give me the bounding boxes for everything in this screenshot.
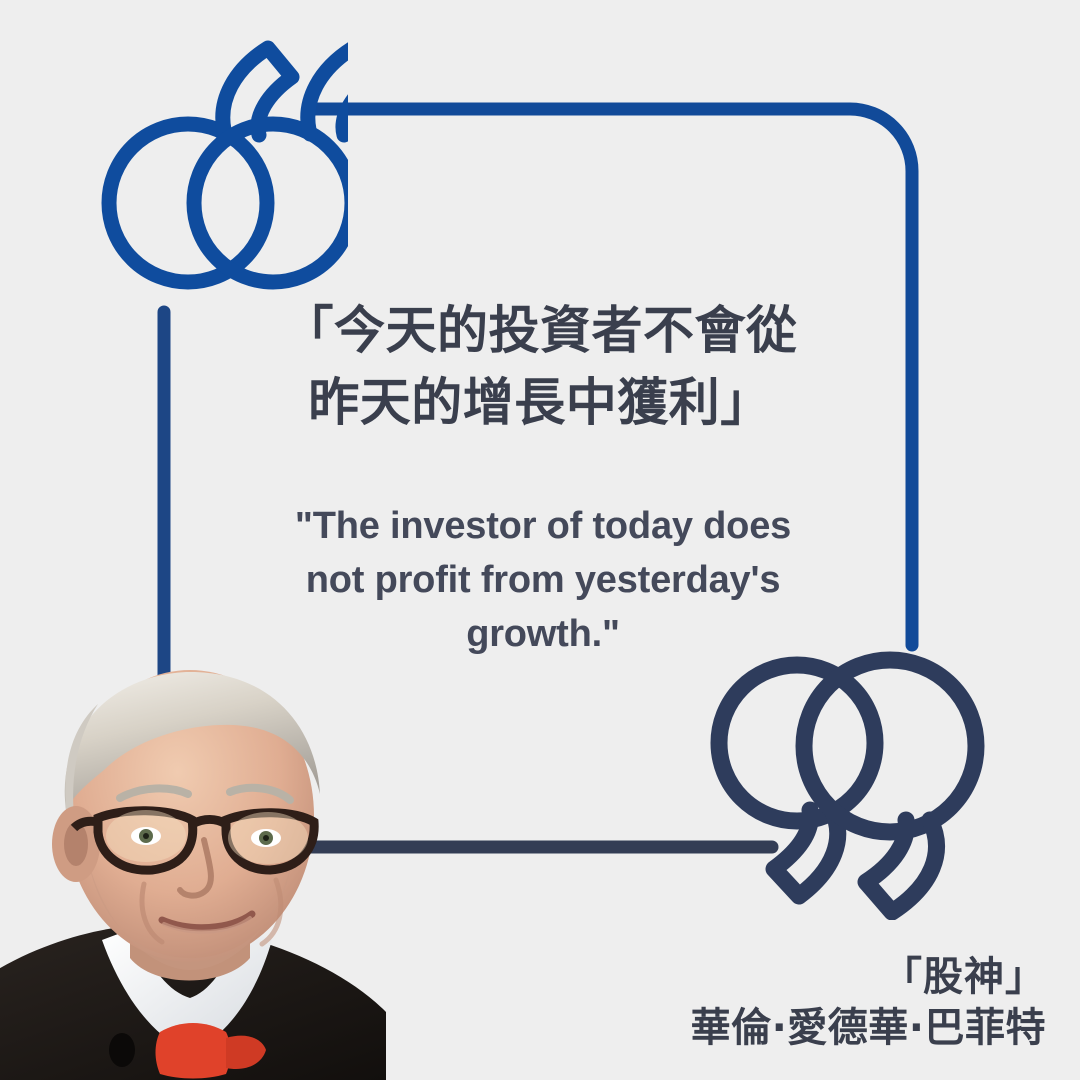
quote-english-line-1: "The investor of today does bbox=[248, 500, 838, 554]
attribution-name: 華倫·愛德華·巴菲特 bbox=[691, 1003, 1046, 1054]
quote-chinese-line-2: 昨天的增長中獲利」 bbox=[250, 368, 830, 440]
quote-english: "The investor of today does not profit f… bbox=[248, 500, 838, 662]
quote-close-icon bbox=[700, 638, 990, 920]
quote-chinese-line-1: 「今天的投資者不會從 bbox=[250, 296, 830, 368]
quote-open-icon bbox=[96, 34, 348, 296]
quote-chinese: 「今天的投資者不會從 昨天的增長中獲利」 bbox=[250, 296, 830, 441]
portrait-photo bbox=[0, 640, 394, 1080]
quote-card: 「今天的投資者不會從 昨天的增長中獲利」 "The investor of to… bbox=[0, 0, 1080, 1080]
attribution: 「股神」 華倫·愛德華·巴菲特 bbox=[691, 952, 1046, 1054]
quote-english-line-2: not profit from yesterday's bbox=[248, 554, 838, 608]
attribution-title: 「股神」 bbox=[691, 952, 1046, 1003]
